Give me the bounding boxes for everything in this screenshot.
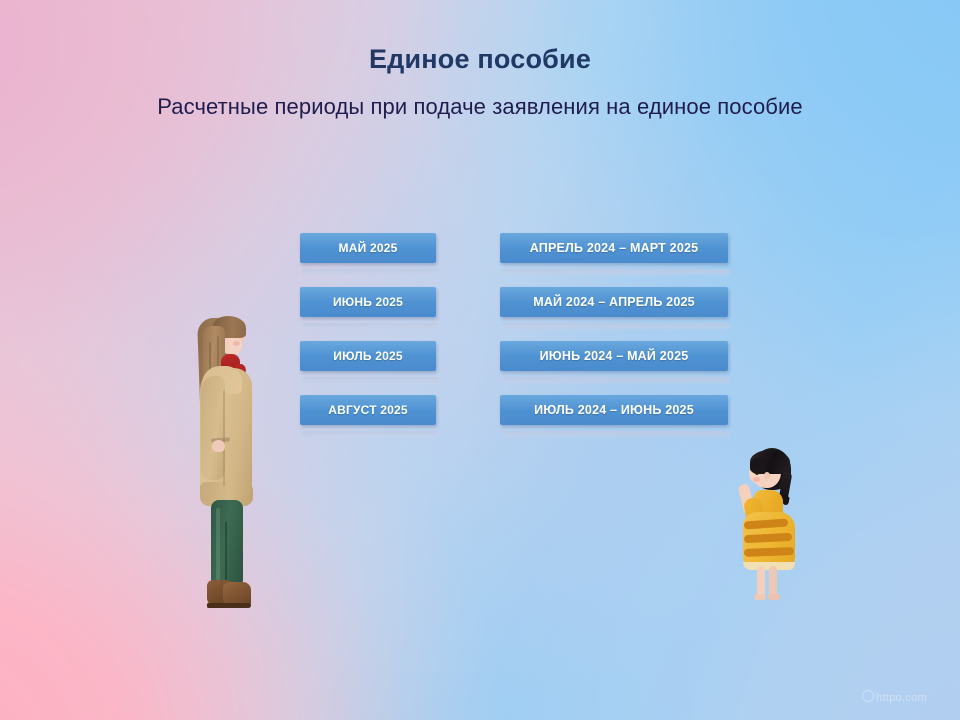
application-month-badge-4[interactable]: АВГУСТ 2025 [300,395,436,425]
slide-canvas: Единое пособие Расчетные периоды при под… [0,0,960,720]
list-item: АПРЕЛЬ 2024 – МАРТ 2025 [500,233,728,263]
girl-eye [755,470,759,475]
list-item: ИЮЛЬ 2024 – ИЮНЬ 2025 [500,395,728,425]
girl-braid-tip [782,495,790,505]
badge-label: ИЮНЬ 2025 [333,295,403,309]
badge-label: ИЮЛЬ 2024 – ИЮНЬ 2025 [534,403,694,417]
calculation-period-badge-1[interactable]: АПРЕЛЬ 2024 – МАРТ 2025 [500,233,728,263]
woman-hand [212,440,225,452]
girl-ear [764,472,770,479]
girl-cheek [753,477,760,482]
page-subtitle: Расчетные периоды при подаче заявления н… [0,94,960,120]
copyright-icon [862,690,874,702]
badge-shadow-bar [302,323,438,330]
badge-shadow-bar [302,269,438,276]
badge-label: МАЙ 2025 [339,241,398,255]
badge-label: АПРЕЛЬ 2024 – МАРТ 2025 [530,241,699,255]
girl-foot-left [754,594,766,600]
girl-standing-illustration [733,446,811,606]
woman-standing-illustration [185,312,267,622]
woman-trousers-seam [225,522,227,584]
badge-label: МАЙ 2024 – АПРЕЛЬ 2025 [533,295,695,309]
badge-shadow-bar [502,269,730,276]
list-item: МАЙ 2025 [300,233,436,263]
badge-shadow-bar [302,431,438,438]
badge-shadow-bar [502,323,730,330]
page-title: Единое пособие [0,44,960,75]
badge-label: ИЮНЬ 2024 – МАЙ 2025 [540,349,689,363]
woman-cheek [233,341,240,346]
list-item: МАЙ 2024 – АПРЕЛЬ 2025 [500,287,728,317]
watermark: httpo.com [862,690,927,704]
badge-label: АВГУСТ 2025 [328,403,408,417]
woman-boot-sole [207,603,251,608]
application-months-column: МАЙ 2025 ИЮНЬ 2025 ИЮЛЬ 2025 АВГУСТ 2025 [300,233,436,449]
calculation-period-badge-3[interactable]: ИЮНЬ 2024 – МАЙ 2025 [500,341,728,371]
list-item: ИЮНЬ 2024 – МАЙ 2025 [500,341,728,371]
application-month-badge-1[interactable]: МАЙ 2025 [300,233,436,263]
girl-foot-right [768,594,780,600]
list-item: ИЮНЬ 2025 [300,287,436,317]
calculation-period-badge-2[interactable]: МАЙ 2024 – АПРЕЛЬ 2025 [500,287,728,317]
badge-shadow-bar [502,431,730,438]
application-month-badge-3[interactable]: ИЮЛЬ 2025 [300,341,436,371]
list-item: ИЮЛЬ 2025 [300,341,436,371]
badge-shadow-bar [302,377,438,384]
list-item: АВГУСТ 2025 [300,395,436,425]
calculation-period-badge-4[interactable]: ИЮЛЬ 2024 – ИЮНЬ 2025 [500,395,728,425]
woman-trousers-highlight [216,508,220,580]
badge-label: ИЮЛЬ 2025 [333,349,402,363]
woman-coat-arm [201,376,225,480]
application-month-badge-2[interactable]: ИЮНЬ 2025 [300,287,436,317]
watermark-text: httpo.com [876,692,927,704]
badge-shadow-bar [502,377,730,384]
calculation-periods-column: АПРЕЛЬ 2024 – МАРТ 2025 МАЙ 2024 – АПРЕЛ… [500,233,728,449]
